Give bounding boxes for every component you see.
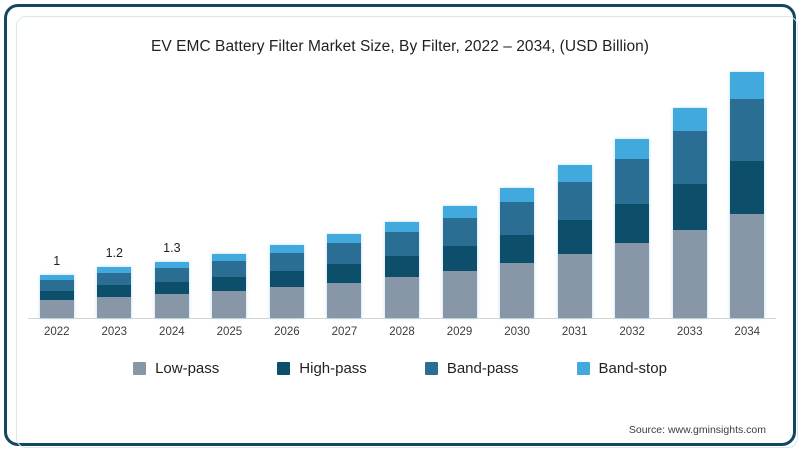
stacked-bar	[558, 165, 592, 318]
x-axis-line	[28, 318, 776, 319]
bar-segment-high-pass	[270, 271, 304, 287]
bar-segment-high-pass	[327, 264, 361, 282]
legend-label: High-pass	[299, 360, 367, 377]
legend-swatch-icon	[277, 362, 290, 375]
bar-column	[615, 139, 649, 318]
bar-segment-band-pass	[730, 99, 764, 161]
bar-column	[673, 108, 707, 318]
bar-segment-band-stop	[615, 139, 649, 158]
bar-segment-band-pass	[558, 182, 592, 221]
chart-legend: Low-passHigh-passBand-passBand-stop	[0, 360, 800, 377]
bar-segment-band-stop	[730, 72, 764, 99]
legend-item-high-pass[interactable]: High-pass	[277, 360, 367, 377]
legend-item-band-pass[interactable]: Band-pass	[425, 360, 519, 377]
x-tick-label: 2027	[314, 326, 374, 338]
stacked-bar	[730, 72, 764, 318]
bar-segment-high-pass	[500, 235, 534, 263]
bar-segment-band-pass	[212, 261, 246, 277]
bar-column	[443, 206, 477, 318]
stacked-bar	[443, 206, 477, 318]
bar-segment-low-pass	[385, 277, 419, 318]
bar-segment-high-pass	[40, 291, 74, 300]
stacked-bar	[327, 234, 361, 318]
bar-segment-band-pass	[673, 131, 707, 184]
bar-segment-low-pass	[40, 300, 74, 318]
stacked-bar	[385, 222, 419, 318]
x-tick-label: 2028	[372, 326, 432, 338]
bar-column	[212, 254, 246, 318]
x-tick-label: 2025	[199, 326, 259, 338]
bar-segment-low-pass	[558, 254, 592, 318]
bar-value-label: 1	[27, 254, 87, 268]
x-tick-label: 2022	[27, 326, 87, 338]
bar-segment-low-pass	[730, 214, 764, 318]
bar-column	[385, 222, 419, 318]
source-caption: Source: www.gminsights.com	[629, 424, 766, 436]
bar-segment-band-pass	[40, 280, 74, 291]
legend-label: Band-stop	[599, 360, 667, 377]
x-tick-label: 2034	[717, 326, 777, 338]
stacked-bar	[615, 139, 649, 318]
bar-value-label: 1.2	[84, 246, 144, 260]
bar-segment-band-stop	[212, 254, 246, 261]
stacked-bar	[40, 275, 74, 318]
bar-segment-low-pass	[443, 271, 477, 318]
bar-segment-low-pass	[327, 283, 361, 318]
x-tick-label: 2031	[545, 326, 605, 338]
x-tick-label: 2024	[142, 326, 202, 338]
bar-column	[97, 267, 131, 318]
legend-label: Band-pass	[447, 360, 519, 377]
bar-segment-high-pass	[673, 184, 707, 230]
legend-swatch-icon	[425, 362, 438, 375]
legend-swatch-icon	[133, 362, 146, 375]
bar-segment-low-pass	[270, 287, 304, 318]
x-tick-label: 2032	[602, 326, 662, 338]
bar-segment-high-pass	[97, 285, 131, 296]
stacked-bar	[270, 245, 304, 318]
bar-column	[155, 262, 189, 318]
legend-label: Low-pass	[155, 360, 219, 377]
x-tick-label: 2033	[660, 326, 720, 338]
bar-segment-band-pass	[270, 253, 304, 271]
bar-segment-band-pass	[443, 218, 477, 246]
bar-segment-band-pass	[97, 273, 131, 286]
bar-segment-high-pass	[730, 161, 764, 215]
bar-segment-low-pass	[615, 243, 649, 318]
bar-segment-band-pass	[385, 232, 419, 256]
bar-segment-band-pass	[155, 268, 189, 282]
bar-segment-band-stop	[500, 188, 534, 202]
x-tick-label: 2026	[257, 326, 317, 338]
bar-value-label: 1.3	[142, 241, 202, 255]
bar-column	[730, 72, 764, 318]
x-tick-label: 2023	[84, 326, 144, 338]
legend-swatch-icon	[577, 362, 590, 375]
bar-segment-high-pass	[443, 246, 477, 270]
stacked-bar	[97, 267, 131, 318]
stacked-bar	[500, 188, 534, 318]
bar-segment-high-pass	[615, 204, 649, 243]
legend-item-band-stop[interactable]: Band-stop	[577, 360, 667, 377]
bar-column	[558, 165, 592, 318]
bar-segment-band-stop	[673, 108, 707, 131]
bar-segment-band-stop	[270, 245, 304, 253]
bar-segment-band-stop	[558, 165, 592, 181]
bar-column	[500, 188, 534, 318]
bar-segment-band-pass	[615, 159, 649, 204]
bar-segment-band-stop	[385, 222, 419, 232]
bar-segment-low-pass	[97, 297, 131, 318]
bar-segment-band-pass	[500, 202, 534, 235]
stacked-bar	[212, 254, 246, 318]
page-title: EV EMC Battery Filter Market Size, By Fi…	[0, 38, 800, 56]
bar-column	[270, 245, 304, 318]
x-tick-label: 2029	[430, 326, 490, 338]
bar-column	[40, 275, 74, 318]
chart-plot-area	[28, 78, 776, 318]
bar-segment-high-pass	[385, 256, 419, 277]
bar-segment-high-pass	[558, 220, 592, 253]
bar-segment-band-stop	[327, 234, 361, 243]
bar-segment-low-pass	[155, 294, 189, 318]
bar-segment-low-pass	[500, 263, 534, 318]
bar-segment-high-pass	[212, 277, 246, 291]
bar-column	[327, 234, 361, 318]
bar-segment-band-pass	[327, 243, 361, 264]
stacked-bar	[673, 108, 707, 318]
legend-item-low-pass[interactable]: Low-pass	[133, 360, 219, 377]
stacked-bar	[155, 262, 189, 318]
bar-segment-band-stop	[443, 206, 477, 218]
bar-segment-low-pass	[673, 230, 707, 318]
x-tick-label: 2030	[487, 326, 547, 338]
bar-segment-low-pass	[212, 291, 246, 318]
bar-segment-high-pass	[155, 282, 189, 294]
